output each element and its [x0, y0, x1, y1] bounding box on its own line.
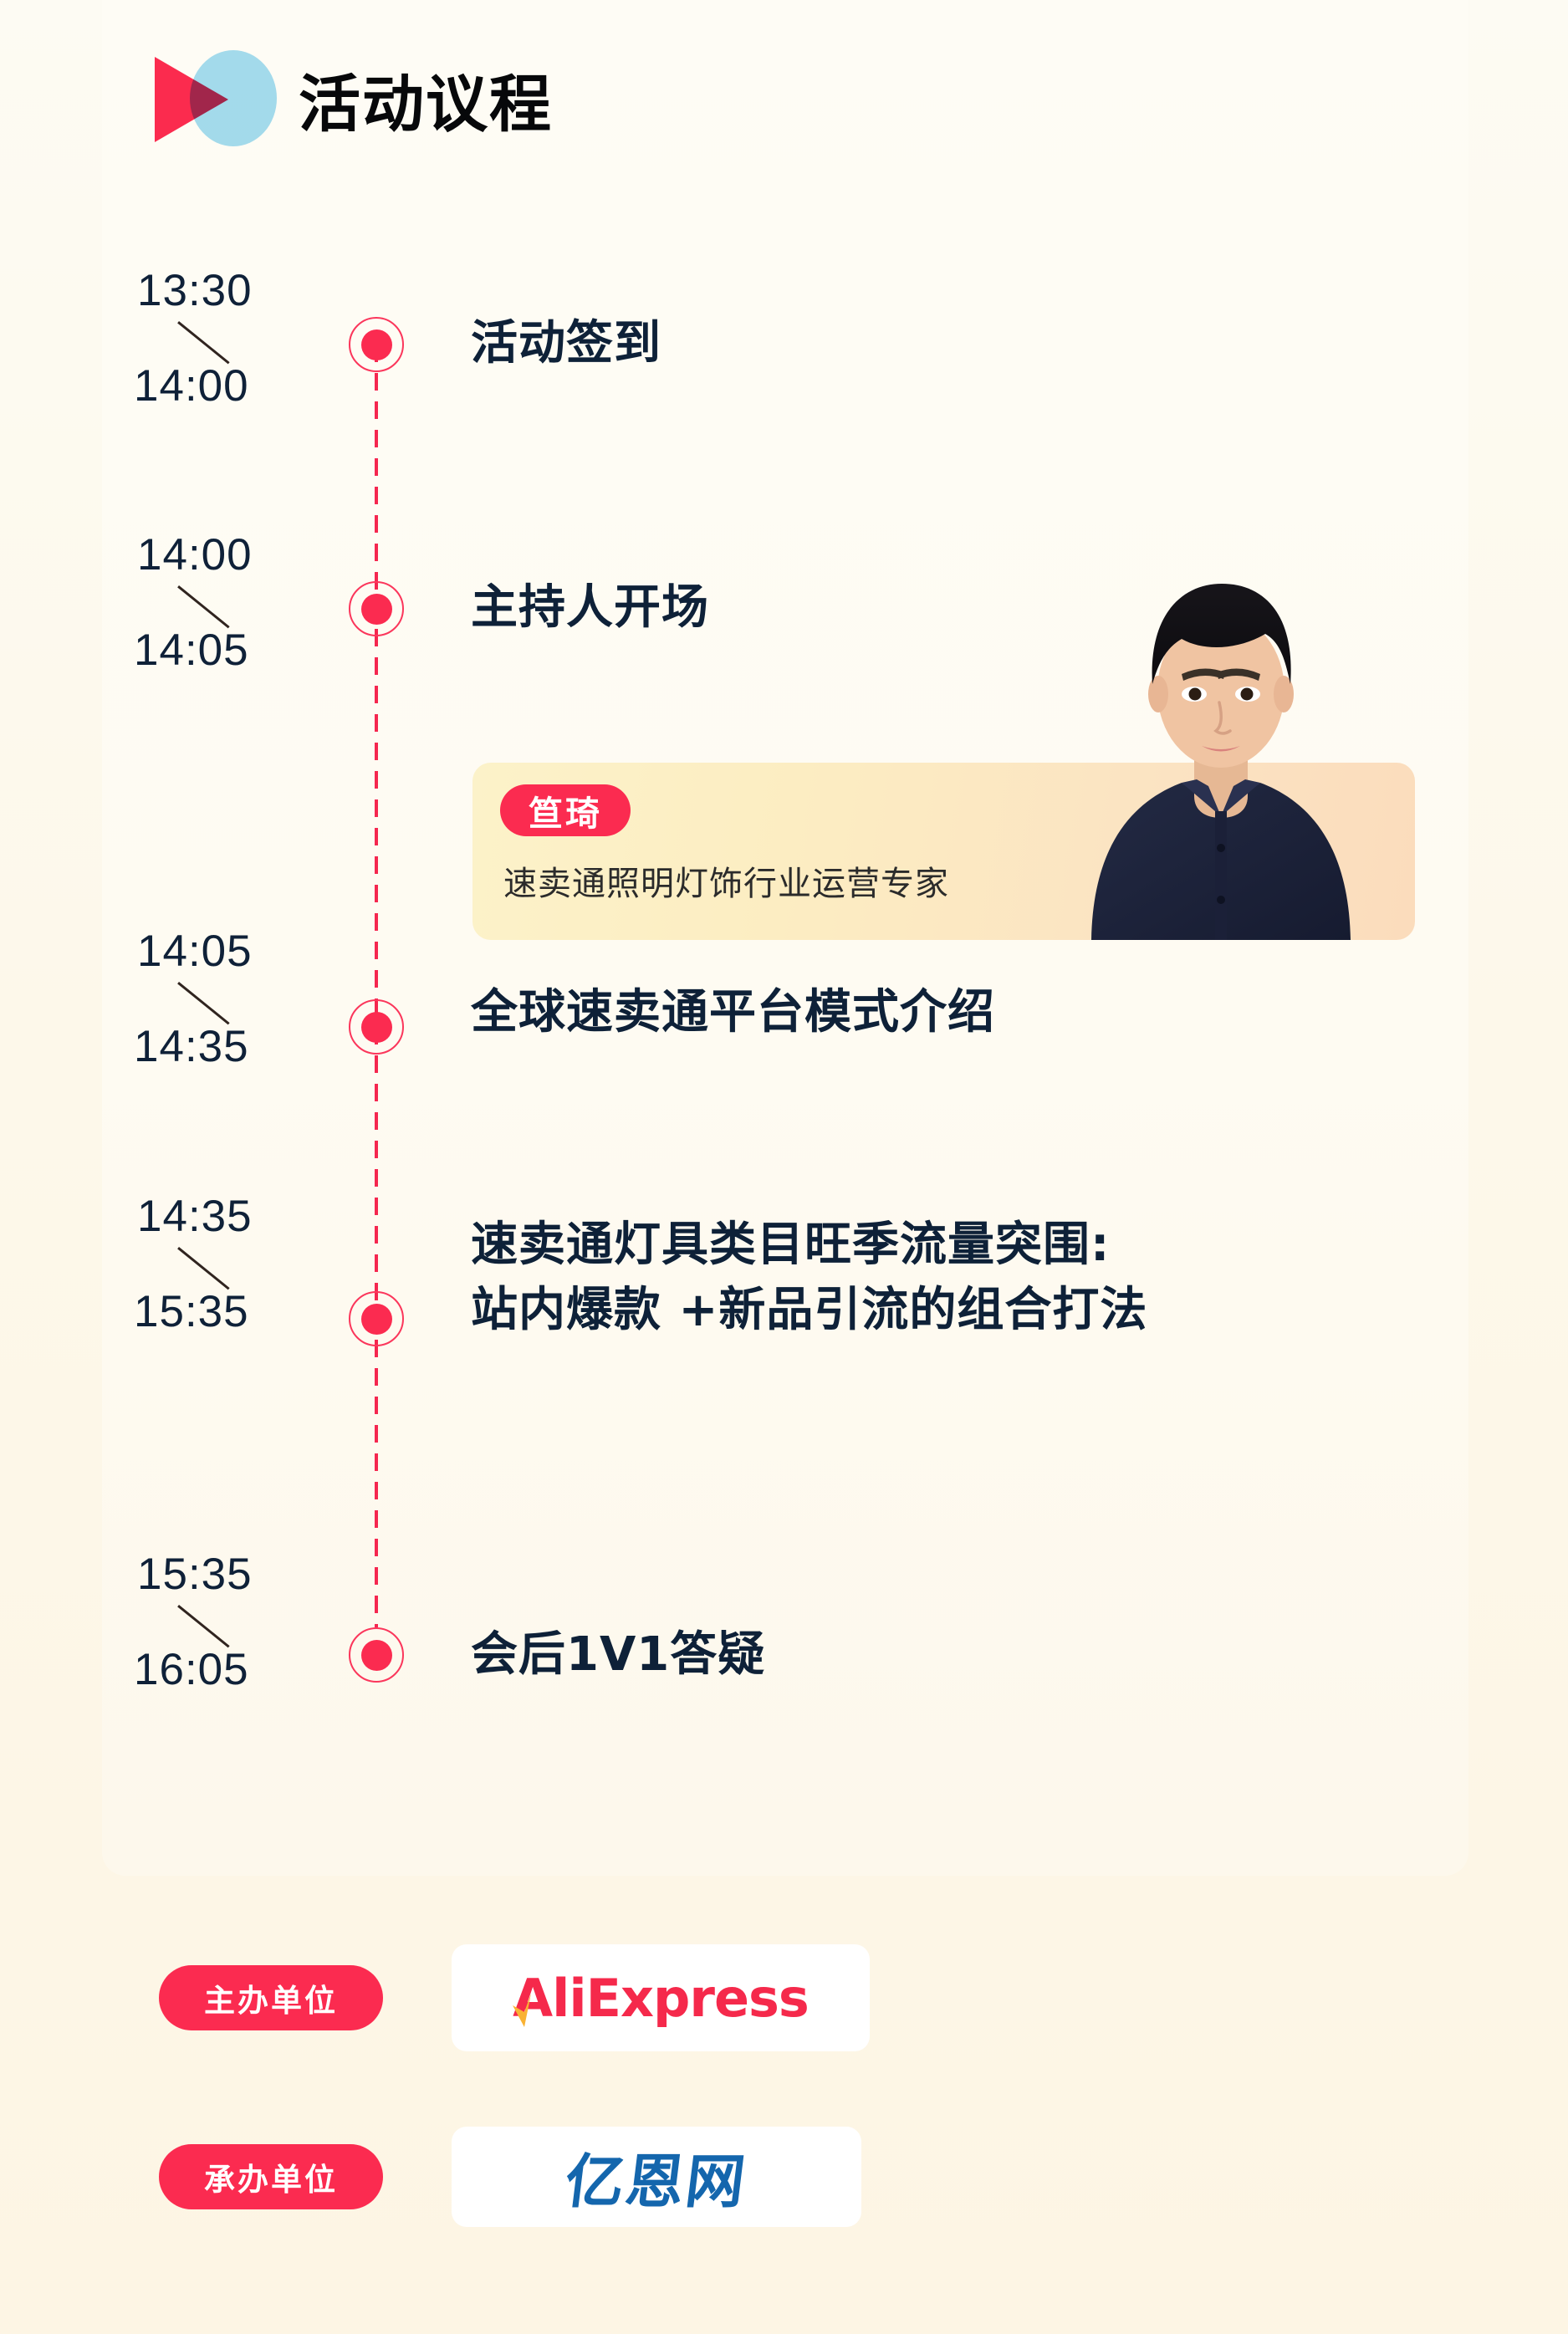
page-header: 活动议程: [155, 50, 553, 147]
agenda-time-block: 13:30 14:00: [134, 266, 376, 411]
time-slash-icon: [172, 584, 273, 622]
agenda-end-time: 14:35: [134, 1022, 376, 1072]
timeline-marker-dot: [349, 581, 404, 636]
aliexpress-logo-text: AliExpress: [513, 1968, 809, 2029]
agenda-time-block: 14:00 14:05: [134, 530, 376, 676]
agenda-item-title: 速卖通灯具类目旺季流量突围: 站内爆款 +新品引流的组合打法: [471, 1213, 1147, 1343]
page-root: 活动议程 13:30 14:00 活动签到 14:00 14:05 主持人开场: [0, 0, 1568, 2334]
aliexpress-check-icon: [511, 1989, 548, 2032]
agenda-start-time: 15:35: [137, 1550, 376, 1600]
agenda-start-time: 14:35: [137, 1192, 376, 1242]
speaker-name-badge: 笪琦: [500, 784, 631, 836]
time-slash-icon: [172, 1603, 273, 1642]
page-title: 活动议程: [299, 54, 553, 144]
agenda-item-title: 活动签到: [471, 311, 661, 376]
organizer-pill-label: 主办单位: [159, 1965, 383, 2030]
agenda-end-time: 14:05: [134, 626, 376, 676]
logo-ellipse-shape: [190, 50, 277, 146]
agenda-end-time: 16:05: [134, 1645, 376, 1695]
agenda-time-block: 14:35 15:35: [134, 1192, 376, 1337]
agenda-item-title: 会后1V1答疑: [471, 1622, 765, 1688]
agenda-item-title-line1: 速卖通灯具类目旺季流量突围:: [471, 1213, 1147, 1278]
speaker-role-label: 速卖通照明灯饰行业运营专家: [503, 856, 949, 905]
organizer-pill-label: 承办单位: [159, 2144, 383, 2209]
agenda-item-title: 全球速卖通平台模式介绍: [471, 980, 995, 1045]
timeline-marker-dot: [349, 1627, 404, 1683]
timeline-marker-dot: [349, 999, 404, 1055]
agenda-start-time: 13:30: [137, 266, 376, 316]
agenda-start-time: 14:00: [137, 530, 376, 580]
agenda-end-time: 14:00: [134, 361, 376, 411]
aliexpress-logo: AliExpress: [452, 1944, 870, 2051]
agenda-time-block: 14:05 14:35: [134, 927, 376, 1072]
yienwang-logo-text: 亿恩网: [561, 2135, 752, 2219]
agenda-start-time: 14:05: [137, 927, 376, 977]
time-slash-icon: [172, 1245, 273, 1284]
timeline-marker-dot: [349, 1291, 404, 1346]
time-slash-icon: [172, 319, 273, 358]
organizer-row: 主办单位 AliExpress: [0, 1944, 1568, 2051]
agenda-time-block: 15:35 16:05: [134, 1550, 376, 1695]
organizer-row: 承办单位 亿恩网: [0, 2123, 1568, 2230]
timeline-marker-dot: [349, 317, 404, 372]
agenda-item-title: 主持人开场: [471, 575, 709, 641]
play-triangle-circle-logo-icon: [155, 50, 270, 147]
agenda-item-title-line2: 站内爆款 +新品引流的组合打法: [471, 1278, 1147, 1343]
yienwang-logo: 亿恩网: [452, 2127, 861, 2227]
agenda-end-time: 15:35: [134, 1287, 376, 1337]
speaker-portrait-image: [1041, 535, 1401, 940]
time-slash-icon: [172, 980, 273, 1019]
